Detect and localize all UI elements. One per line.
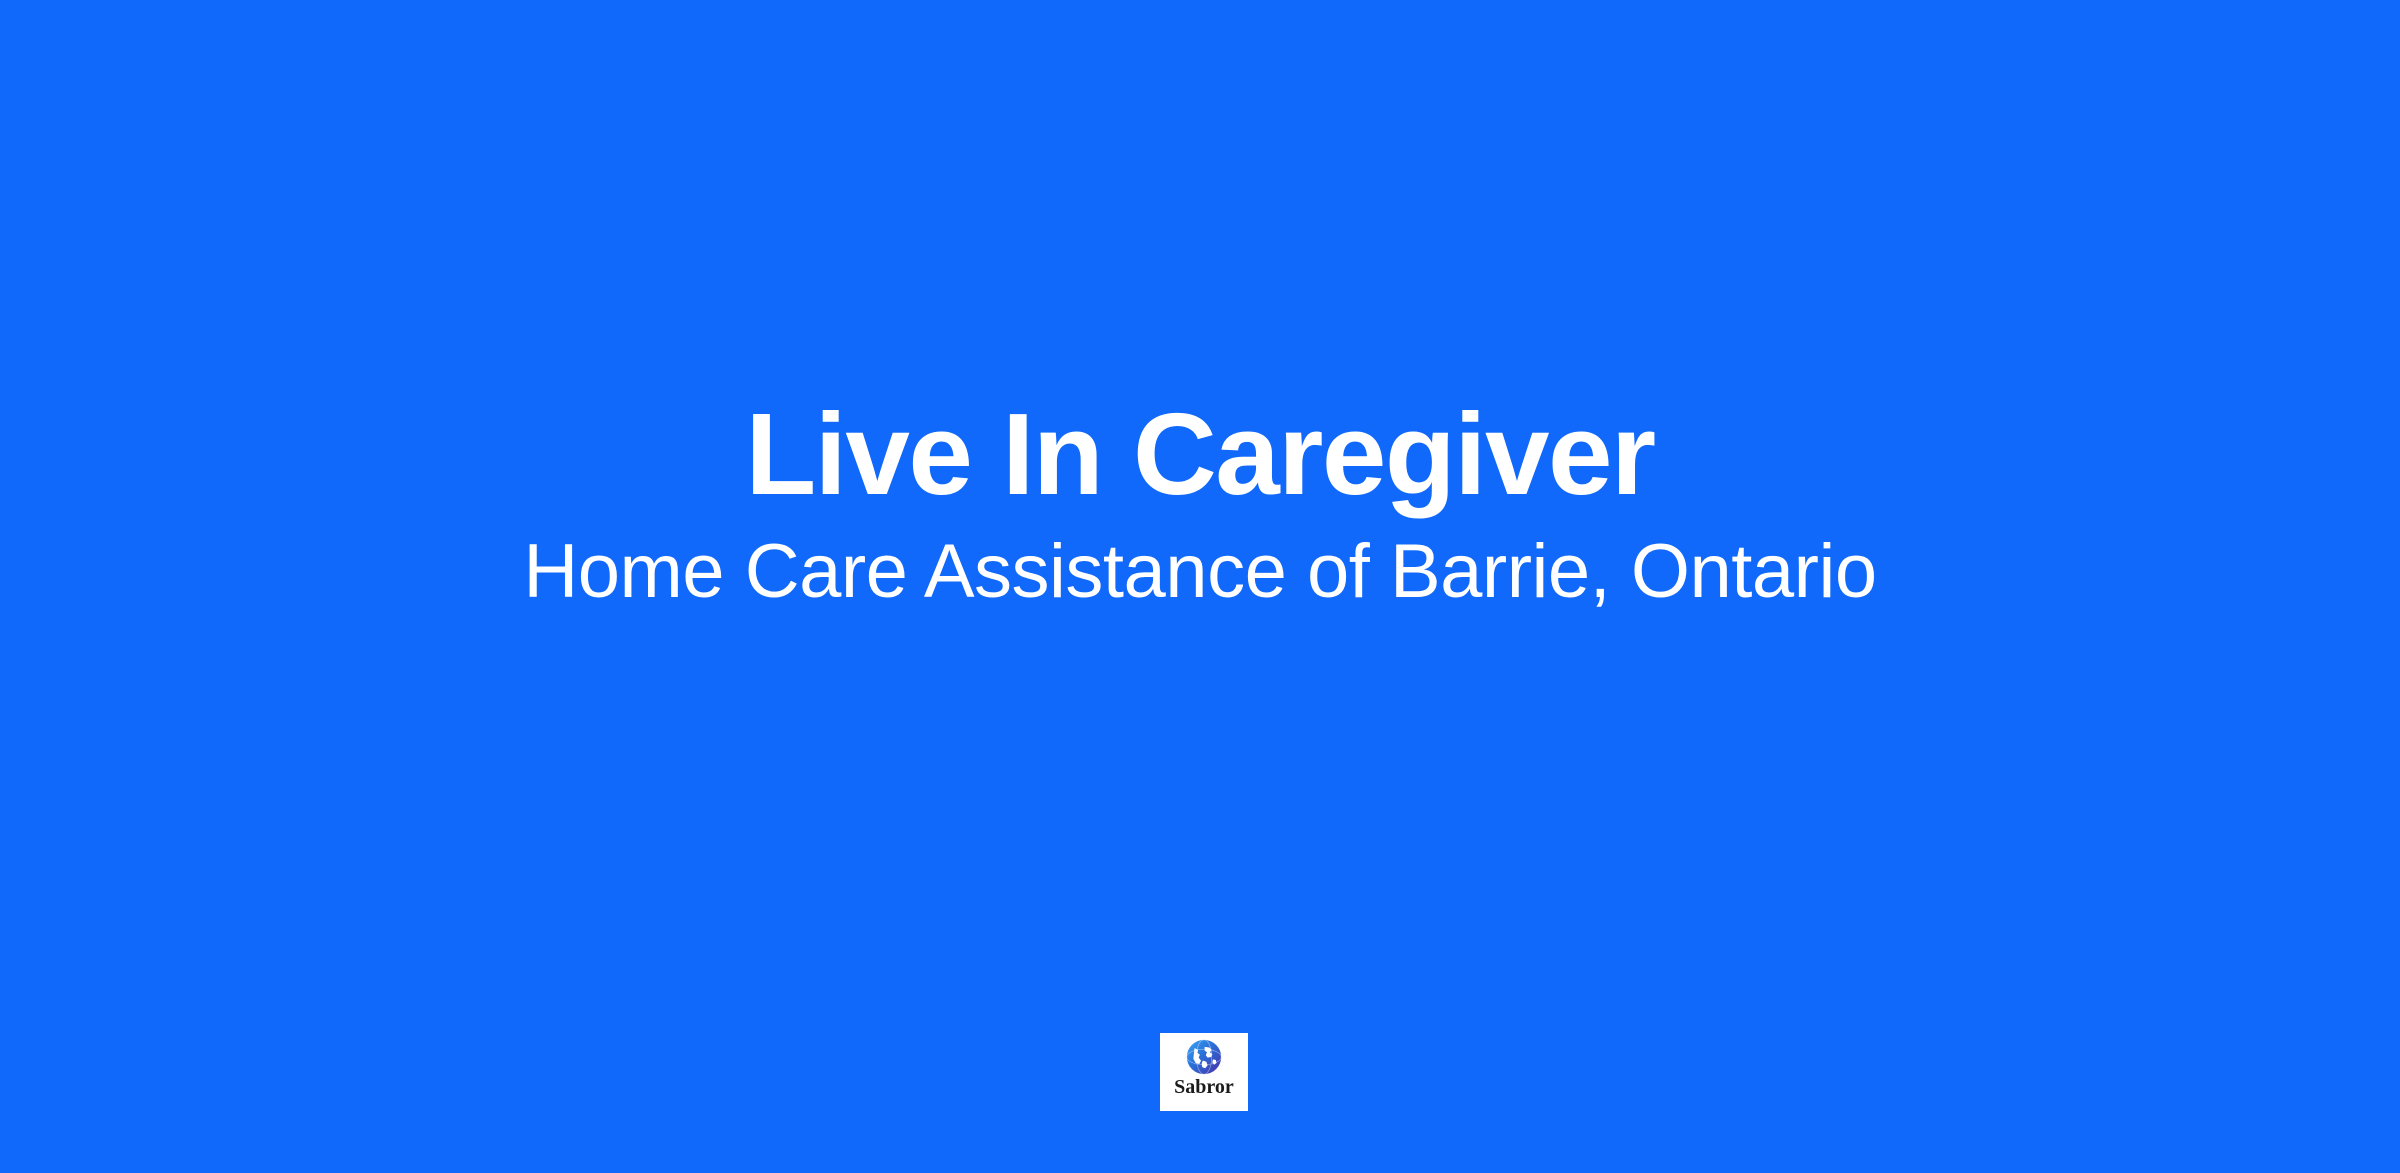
brand-name: Sabror xyxy=(1174,1077,1234,1098)
globe-icon xyxy=(1185,1038,1223,1076)
page-subtitle: Home Care Assistance of Barrie, Ontario xyxy=(523,532,1876,612)
brand-logo[interactable]: Sabror xyxy=(1160,1033,1248,1111)
hero-banner: Live In Caregiver Home Care Assistance o… xyxy=(0,0,2400,1173)
hero-text-block: Live In Caregiver Home Care Assistance o… xyxy=(0,0,2400,1173)
page-title: Live In Caregiver xyxy=(745,396,1654,512)
